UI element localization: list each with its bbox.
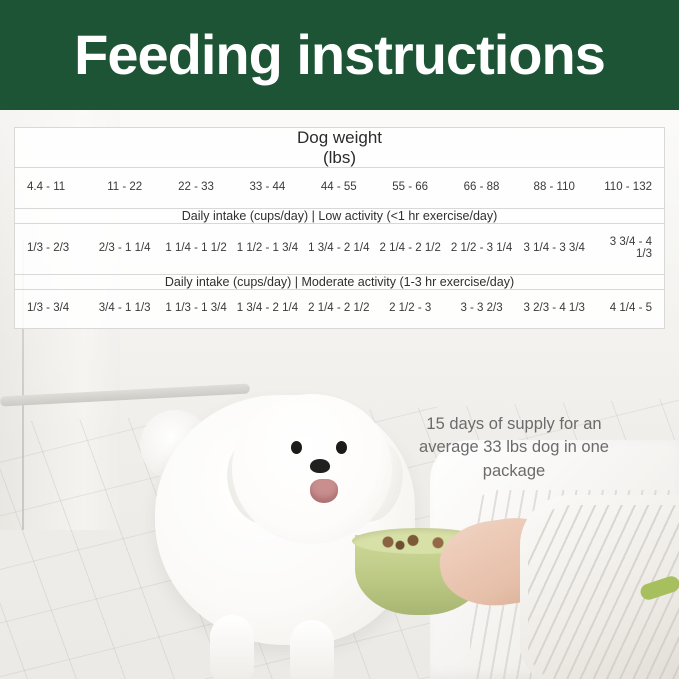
moderate-activity-value-7: 3 2/3 - 4 1/3 [517,290,591,329]
moderate-activity-value-2: 1 1/3 - 1 3/4 [160,290,231,329]
weight-col-7: 88 - 110 [517,168,591,209]
moderate-activity-value-8: 4 1/4 - 5 [591,290,664,329]
moderate-activity-label: Daily intake (cups/day) | Moderate activ… [15,275,664,290]
page-title: Feeding instructions [74,27,605,83]
low-activity-value-0: 1/3 - 2/3 [15,224,89,275]
low-activity-value-6: 2 1/2 - 3 1/4 [446,224,517,275]
moderate-activity-value-1: 3/4 - 1 1/3 [89,290,160,329]
weight-col-6: 66 - 88 [446,168,517,209]
supply-note: 15 days of supply for an average 33 lbs … [398,413,630,483]
section-header-low-activity: Daily intake (cups/day) | Low activity (… [15,209,664,224]
feeding-table-grid: Dog weight (lbs) 4.4 - 11 11 - 22 22 - 3… [15,128,664,329]
dog-weight-header: Dog weight (lbs) [15,128,664,168]
weight-col-5: 55 - 66 [374,168,445,209]
dog-mouth [310,479,338,503]
moderate-activity-value-3: 1 3/4 - 2 1/4 [232,290,303,329]
table-title-row: Dog weight (lbs) [15,128,664,168]
dog-nose [310,459,330,473]
dog-eye-left [291,441,302,454]
section-header-moderate-activity: Daily intake (cups/day) | Moderate activ… [15,275,664,290]
low-activity-values-row: 1/3 - 2/3 2/3 - 1 1/4 1 1/4 - 1 1/2 1 1/… [15,224,664,275]
low-activity-value-7: 3 1/4 - 3 3/4 [517,224,591,275]
weight-columns-row: 4.4 - 11 11 - 22 22 - 33 33 - 44 44 - 55… [15,168,664,209]
low-activity-value-3: 1 1/2 - 1 3/4 [232,224,303,275]
weight-col-3: 33 - 44 [232,168,303,209]
weight-col-4: 44 - 55 [303,168,374,209]
weight-col-0: 4.4 - 11 [15,168,89,209]
header-banner: Feeding instructions [0,0,679,110]
feeding-table: Dog weight (lbs) 4.4 - 11 11 - 22 22 - 3… [14,127,665,329]
weight-col-2: 22 - 33 [160,168,231,209]
dog-eye-right [336,441,347,454]
low-activity-value-1: 2/3 - 1 1/4 [89,224,160,275]
dog-front-leg-left [210,615,254,679]
low-activity-value-2: 1 1/4 - 1 1/2 [160,224,231,275]
dog-weight-unit: (lbs) [15,148,664,168]
dog-front-leg-right [290,620,334,679]
moderate-activity-values-row: 1/3 - 3/4 3/4 - 1 1/3 1 1/3 - 1 3/4 1 3/… [15,290,664,329]
weight-col-8: 110 - 132 [591,168,664,209]
moderate-activity-value-0: 1/3 - 3/4 [15,290,89,329]
low-activity-value-5: 2 1/4 - 2 1/2 [374,224,445,275]
moderate-activity-value-6: 3 - 3 2/3 [446,290,517,329]
weight-col-1: 11 - 22 [89,168,160,209]
low-activity-label: Daily intake (cups/day) | Low activity (… [15,209,664,224]
low-activity-value-4: 1 3/4 - 2 1/4 [303,224,374,275]
low-activity-value-8: 3 3/4 - 4 1/3 [591,224,664,275]
moderate-activity-value-4: 2 1/4 - 2 1/2 [303,290,374,329]
dog-weight-label: Dog weight [297,128,382,147]
moderate-activity-value-5: 2 1/2 - 3 [374,290,445,329]
